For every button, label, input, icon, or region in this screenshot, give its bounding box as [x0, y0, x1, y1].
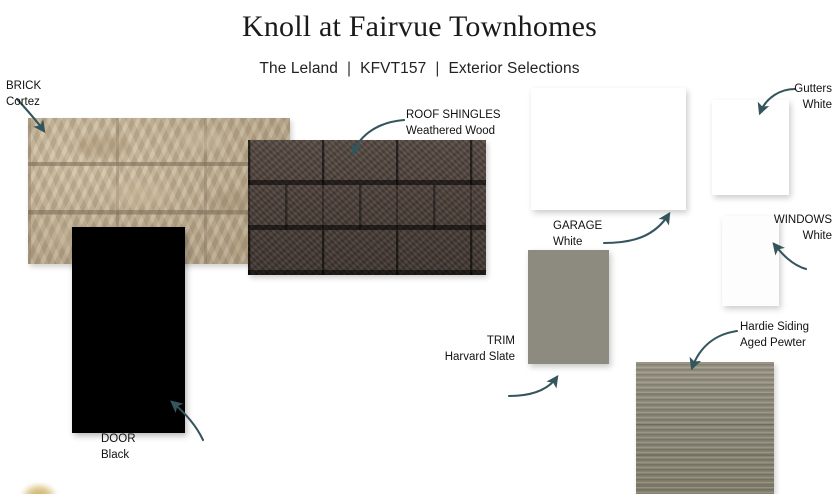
callout-trim: TRIM Harvard Slate [443, 334, 515, 366]
callout-roof-shingles: ROOF SHINGLES Weathered Wood [406, 108, 501, 140]
swatch-door [72, 227, 185, 433]
subtitle-separator-2: | [426, 60, 448, 78]
arrow-trim [509, 377, 557, 396]
page-title: Knoll at Fairvue Townhomes [0, 10, 839, 43]
callout-trim-category: TRIM [443, 334, 515, 350]
callout-brick-category: BRICK [6, 79, 41, 95]
callout-trim-product: Harvard Slate [443, 350, 515, 366]
swatch-garage [531, 88, 686, 210]
subtitle-section: Exterior Selections [448, 60, 579, 77]
callout-door: DOOR Black [101, 432, 136, 464]
callout-gutters-category: Gutters [732, 82, 832, 98]
arrow-garage [604, 214, 669, 243]
callout-garage-category: GARAGE [553, 219, 602, 235]
callout-siding-category: Hardie Siding [740, 320, 809, 336]
swatch-hardie-siding [636, 362, 774, 494]
swatch-cropped-sliver [22, 484, 56, 494]
callout-door-product: Black [101, 448, 136, 464]
callout-roof-product: Weathered Wood [406, 124, 501, 140]
callout-brick-product: Cortez [6, 95, 41, 111]
swatch-gutters [712, 100, 789, 195]
swatch-roof-shingles [248, 140, 486, 275]
callout-door-category: DOOR [101, 432, 136, 448]
callout-hardie-siding: Hardie Siding Aged Pewter [740, 320, 809, 352]
callout-garage-product: White [553, 235, 602, 251]
callout-roof-category: ROOF SHINGLES [406, 108, 501, 124]
callout-brick: BRICK Cortez [6, 79, 41, 111]
callout-gutters-product: White [732, 98, 832, 114]
page-subtitle: The Leland|KFVT157|Exterior Selections [0, 60, 839, 78]
callout-garage: GARAGE White [553, 219, 602, 251]
callout-windows: WINDOWS White [716, 213, 832, 245]
callout-gutters: Gutters White [732, 82, 832, 114]
callout-windows-category: WINDOWS [716, 213, 832, 229]
callout-siding-product: Aged Pewter [740, 336, 809, 352]
callout-windows-product: White [716, 229, 832, 245]
subtitle-plan-name: The Leland [259, 60, 338, 77]
subtitle-separator-1: | [338, 60, 360, 78]
subtitle-plan-code: KFVT157 [360, 60, 426, 77]
exterior-selections-board: Knoll at Fairvue Townhomes The Leland|KF… [0, 0, 839, 494]
swatch-trim [528, 250, 609, 364]
